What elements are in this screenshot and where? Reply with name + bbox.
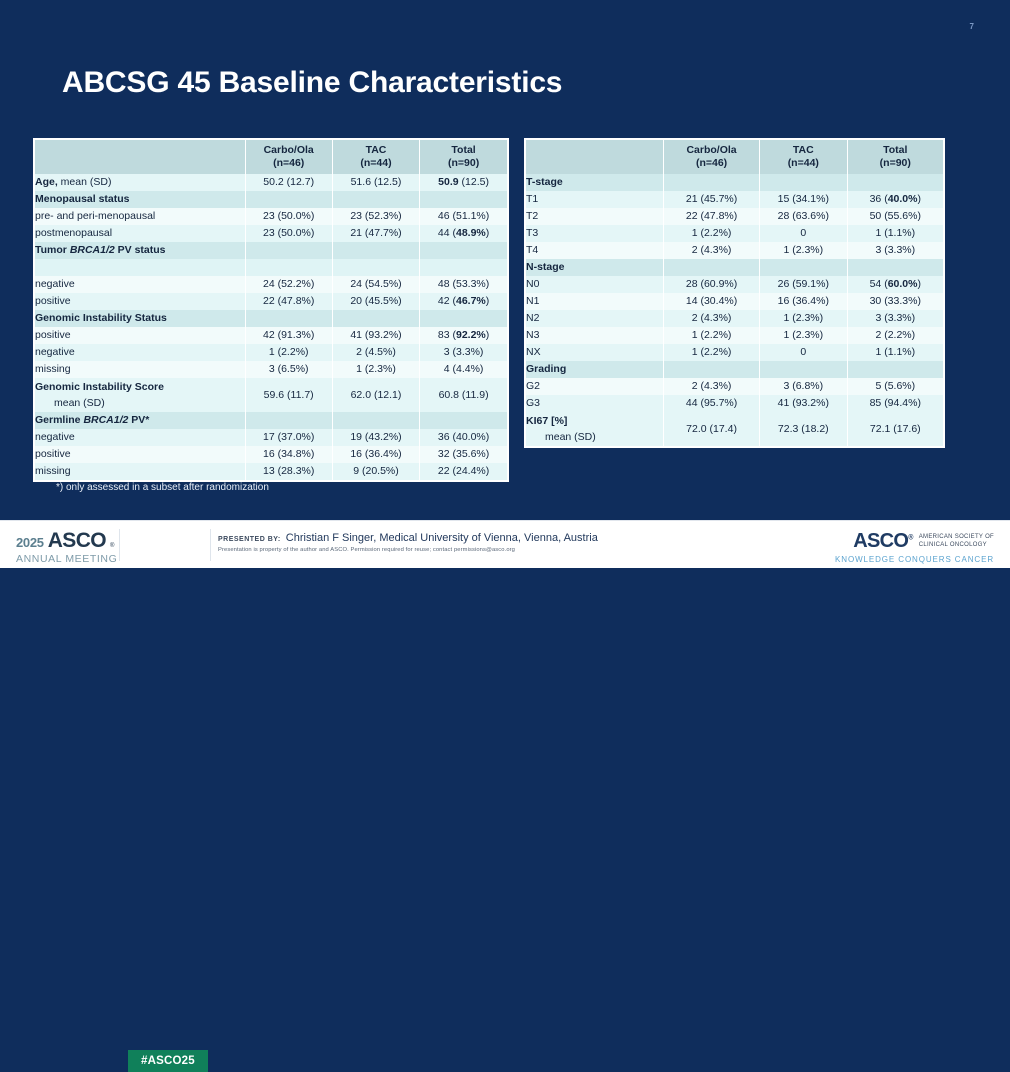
row-label: T2 — [526, 210, 538, 222]
row-value-cell: 1 (2.2%) — [245, 344, 332, 361]
row-label: T3 — [526, 227, 538, 239]
row-label-cell: T-stage — [526, 174, 664, 191]
col-header-tac-right: TAC (n=44) — [760, 140, 848, 174]
table-row: T42 (4.3%)1 (2.3%)3 (3.3%) — [526, 242, 943, 259]
row-label: negative — [35, 346, 75, 358]
row-value-cell: 1 (2.3%) — [760, 242, 848, 259]
row-label: pre- and peri-menopausal — [35, 210, 155, 222]
row-label: negative — [35, 278, 75, 290]
row-value-cell: 42 (91.3%) — [245, 327, 332, 344]
table-row: Age, mean (SD)50.2 (12.7)51.6 (12.5)50.9… — [35, 174, 507, 191]
col-header-carbo-ola-right: Carbo/Ola (n=46) — [664, 140, 760, 174]
table-row: T-stage — [526, 174, 943, 191]
row-group-label: Genomic Instability Status — [35, 312, 167, 324]
row-label-cell: pre- and peri-menopausal — [35, 208, 245, 225]
row-label: N2 — [526, 312, 539, 324]
row-value-cell: 28 (63.6%) — [760, 208, 848, 225]
row-group-label: T-stage — [526, 176, 563, 188]
row-value-cell — [332, 412, 419, 429]
page-title: ABCSG 45 Baseline Characteristics — [62, 66, 562, 100]
row-value-cell — [332, 310, 419, 327]
row-value-cell: 62.0 (12.1) — [332, 378, 419, 412]
row-label: N3 — [526, 329, 539, 341]
row-value-cell: 9 (20.5%) — [332, 463, 419, 480]
row-label-cell: N2 — [526, 310, 664, 327]
row-value-cell: 1 (2.2%) — [664, 225, 760, 242]
slide-footer: 2025 ASCO® ANNUAL MEETING #ASCO25 PRESEN… — [0, 520, 1010, 568]
row-value-cell — [420, 242, 507, 259]
table-row: Genomic Instability Status — [35, 310, 507, 327]
row-value-cell: 32 (35.6%) — [420, 446, 507, 463]
table-row: T31 (2.2%)01 (1.1%) — [526, 225, 943, 242]
row-value-cell — [420, 191, 507, 208]
row-value-cell — [847, 361, 943, 378]
row-value-cell: 36 (40.0%) — [847, 191, 943, 208]
hashtag-badge[interactable]: #ASCO25 — [128, 1050, 208, 1072]
row-label-cell: T2 — [526, 208, 664, 225]
row-group-label: N-stage — [526, 261, 565, 273]
col-header-total-right: Total (n=90) — [847, 140, 943, 174]
table-left-body: Age, mean (SD)50.2 (12.7)51.6 (12.5)50.9… — [35, 174, 507, 480]
row-value-cell — [760, 174, 848, 191]
row-value-cell: 72.1 (17.6) — [847, 412, 943, 446]
row-value-cell: 51.6 (12.5) — [332, 174, 419, 191]
row-value-cell: 26 (59.1%) — [760, 276, 848, 293]
asco-tagline: KNOWLEDGE CONQUERS CANCER — [835, 555, 994, 564]
table-row: T222 (47.8%)28 (63.6%)50 (55.6%) — [526, 208, 943, 225]
row-label: positive — [35, 329, 71, 341]
row-label-cell: Menopausal status — [35, 191, 245, 208]
row-value-cell: 72.0 (17.4) — [664, 412, 760, 446]
table-row: N22 (4.3%)1 (2.3%)3 (3.3%) — [526, 310, 943, 327]
row-value-cell — [760, 259, 848, 276]
row-value-cell: 1 (1.1%) — [847, 344, 943, 361]
row-value-cell — [420, 412, 507, 429]
row-value-cell: 50.9 (12.5) — [420, 174, 507, 191]
row-value-cell — [760, 361, 848, 378]
table-left: Carbo/Ola (n=46) TAC (n=44) Total (n=90)… — [35, 140, 507, 480]
row-label-cell: T1 — [526, 191, 664, 208]
row-label-line2: mean (SD) — [35, 395, 245, 411]
row-label-cell: positive — [35, 446, 245, 463]
row-value-cell: 0 — [760, 225, 848, 242]
row-label: T4 — [526, 244, 538, 256]
table-right-header-row: Carbo/Ola (n=46) TAC (n=44) Total (n=90) — [526, 140, 943, 174]
row-label-line2: mean (SD) — [526, 429, 663, 445]
table-row: negative17 (37.0%)19 (43.2%)36 (40.0%) — [35, 429, 507, 446]
row-value-cell — [847, 259, 943, 276]
row-label-cell: negative — [35, 276, 245, 293]
table-row: Grading — [526, 361, 943, 378]
presented-by-label: PRESENTED BY: — [218, 536, 281, 543]
row-value-cell: 30 (33.3%) — [847, 293, 943, 310]
asco-wordmark: ASCO — [48, 530, 106, 551]
row-group-label: Germline BRCA1/2 PV* — [35, 414, 149, 426]
row-value-cell: 50.2 (12.7) — [245, 174, 332, 191]
row-value-cell: 41 (93.2%) — [332, 327, 419, 344]
row-group-label: Menopausal status — [35, 193, 130, 205]
row-value-cell: 3 (3.3%) — [420, 344, 507, 361]
row-value-cell — [664, 259, 760, 276]
row-value-cell: 3 (3.3%) — [847, 310, 943, 327]
row-value-cell: 36 (40.0%) — [420, 429, 507, 446]
row-value-cell — [332, 191, 419, 208]
row-label-line1: Genomic Instability Score — [35, 379, 245, 395]
presenter-name: Christian F Singer, Medical University o… — [286, 532, 598, 544]
row-value-cell — [245, 310, 332, 327]
row-value-cell — [420, 259, 507, 276]
footer-disclaimer: Presentation is property of the author a… — [218, 547, 598, 553]
table-row — [35, 259, 507, 276]
row-value-cell: 42 (46.7%) — [420, 293, 507, 310]
asco-logo: ASCO® AMERICAN SOCIETY OF CLINICAL ONCOL… — [835, 531, 994, 564]
row-value-cell: 3 (3.3%) — [847, 242, 943, 259]
row-label: postmenopausal — [35, 227, 112, 239]
row-value-cell: 0 — [760, 344, 848, 361]
row-label: positive — [35, 295, 71, 307]
row-label: missing — [35, 363, 71, 375]
presented-by-block: PRESENTED BY: Christian F Singer, Medica… — [218, 532, 598, 553]
row-value-cell: 59.6 (11.7) — [245, 378, 332, 412]
table-row: missing13 (28.3%)9 (20.5%)22 (24.4%) — [35, 463, 507, 480]
row-value-cell: 1 (2.3%) — [760, 327, 848, 344]
row-label-cell: N1 — [526, 293, 664, 310]
row-value-cell: 21 (47.7%) — [332, 225, 419, 242]
page-number: 7 — [970, 22, 974, 31]
row-label-cell: T4 — [526, 242, 664, 259]
row-label-cell: Tumor BRCA1/2 PV status — [35, 242, 245, 259]
row-value-cell: 4 (4.4%) — [420, 361, 507, 378]
row-value-cell: 17 (37.0%) — [245, 429, 332, 446]
row-label-cell: G2 — [526, 378, 664, 395]
row-label-cell: N3 — [526, 327, 664, 344]
row-value-cell: 83 (92.2%) — [420, 327, 507, 344]
row-value-cell: 1 (2.2%) — [664, 327, 760, 344]
baseline-characteristics-table-right: Carbo/Ola (n=46) TAC (n=44) Total (n=90)… — [524, 138, 945, 448]
row-value-cell — [332, 259, 419, 276]
row-label-cell: missing — [35, 463, 245, 480]
table-right: Carbo/Ola (n=46) TAC (n=44) Total (n=90)… — [526, 140, 943, 446]
row-label-cell: T3 — [526, 225, 664, 242]
table-row: G22 (4.3%)3 (6.8%)5 (5.6%) — [526, 378, 943, 395]
row-group-label: Grading — [526, 363, 566, 375]
row-value-cell — [664, 361, 760, 378]
table-row: Germline BRCA1/2 PV* — [35, 412, 507, 429]
row-value-cell — [332, 242, 419, 259]
table-right-header: Carbo/Ola (n=46) TAC (n=44) Total (n=90) — [526, 140, 943, 174]
table-row: N-stage — [526, 259, 943, 276]
table-row: N028 (60.9%)26 (59.1%)54 (60.0%) — [526, 276, 943, 293]
row-value-cell: 60.8 (11.9) — [420, 378, 507, 412]
row-value-cell — [245, 259, 332, 276]
row-value-cell: 3 (6.5%) — [245, 361, 332, 378]
table-row: postmenopausal23 (50.0%)21 (47.7%)44 (48… — [35, 225, 507, 242]
footer-divider-2 — [210, 529, 211, 561]
row-label-cell: NX — [526, 344, 664, 361]
row-value-cell — [420, 310, 507, 327]
row-value-cell: 16 (34.8%) — [245, 446, 332, 463]
row-value-cell: 24 (54.5%) — [332, 276, 419, 293]
table-row: T121 (45.7%)15 (34.1%)36 (40.0%) — [526, 191, 943, 208]
row-label-cell: missing — [35, 361, 245, 378]
table-row: Menopausal status — [35, 191, 507, 208]
row-label: missing — [35, 465, 71, 477]
table-row: positive22 (47.8%)20 (45.5%)42 (46.7%) — [35, 293, 507, 310]
row-label-cell: Age, mean (SD) — [35, 174, 245, 191]
row-label-cell: Germline BRCA1/2 PV* — [35, 412, 245, 429]
row-value-cell: 1 (2.2%) — [664, 344, 760, 361]
row-value-cell: 20 (45.5%) — [332, 293, 419, 310]
row-label-cell: Genomic Instability Status — [35, 310, 245, 327]
row-value-cell: 5 (5.6%) — [847, 378, 943, 395]
row-value-cell: 1 (1.1%) — [847, 225, 943, 242]
row-label: T1 — [526, 193, 538, 205]
row-value-cell: 24 (52.2%) — [245, 276, 332, 293]
row-value-cell: 44 (95.7%) — [664, 395, 760, 412]
table-left-header: Carbo/Ola (n=46) TAC (n=44) Total (n=90) — [35, 140, 507, 174]
meeting-subtitle: ANNUAL MEETING — [16, 554, 117, 565]
row-label: G2 — [526, 380, 540, 392]
table-row: negative24 (52.2%)24 (54.5%)48 (53.3%) — [35, 276, 507, 293]
row-value-cell: 2 (4.3%) — [664, 242, 760, 259]
table-left-header-row: Carbo/Ola (n=46) TAC (n=44) Total (n=90) — [35, 140, 507, 174]
row-value-cell: 72.3 (18.2) — [760, 412, 848, 446]
row-label-cell: N0 — [526, 276, 664, 293]
row-value-cell — [245, 242, 332, 259]
row-value-cell — [245, 191, 332, 208]
row-value-cell — [847, 174, 943, 191]
row-label: NX — [526, 346, 541, 358]
slide: 7 ABCSG 45 Baseline Characteristics Carb… — [0, 0, 1010, 568]
row-value-cell: 21 (45.7%) — [664, 191, 760, 208]
baseline-characteristics-table-left: Carbo/Ola (n=46) TAC (n=44) Total (n=90)… — [33, 138, 509, 482]
row-label-cell: KI67 [%]mean (SD) — [526, 412, 664, 446]
row-value-cell: 28 (60.9%) — [664, 276, 760, 293]
row-value-cell: 14 (30.4%) — [664, 293, 760, 310]
row-value-cell: 41 (93.2%) — [760, 395, 848, 412]
row-value-cell: 23 (52.3%) — [332, 208, 419, 225]
row-label-cell: negative — [35, 429, 245, 446]
table-row: KI67 [%]mean (SD)72.0 (17.4)72.3 (18.2)7… — [526, 412, 943, 446]
registered-mark-icon-2: ® — [908, 534, 912, 541]
row-value-cell: 44 (48.9%) — [420, 225, 507, 242]
table-right-body: T-stageT121 (45.7%)15 (34.1%)36 (40.0%)T… — [526, 174, 943, 446]
table-row: negative1 (2.2%)2 (4.5%)3 (3.3%) — [35, 344, 507, 361]
table-row: Tumor BRCA1/2 PV status — [35, 242, 507, 259]
row-label-cell — [35, 259, 245, 276]
row-value-cell: 16 (36.4%) — [332, 446, 419, 463]
table-row: positive16 (34.8%)16 (36.4%)32 (35.6%) — [35, 446, 507, 463]
row-label: Age, mean (SD) — [35, 176, 111, 188]
row-label-cell: negative — [35, 344, 245, 361]
hashtag-label: #ASCO25 — [128, 1050, 208, 1072]
col-header-label-left — [35, 140, 245, 174]
row-label: positive — [35, 448, 71, 460]
table-row: NX1 (2.2%)01 (1.1%) — [526, 344, 943, 361]
row-label-cell: Grading — [526, 361, 664, 378]
col-header-label-right — [526, 140, 664, 174]
registered-mark-icon: ® — [110, 543, 114, 549]
row-value-cell: 46 (51.1%) — [420, 208, 507, 225]
row-value-cell: 15 (34.1%) — [760, 191, 848, 208]
table-row: missing3 (6.5%)1 (2.3%)4 (4.4%) — [35, 361, 507, 378]
row-value-cell: 2 (2.2%) — [847, 327, 943, 344]
footnote: *) only assessed in a subset after rando… — [56, 482, 269, 493]
table-row: N114 (30.4%)16 (36.4%)30 (33.3%) — [526, 293, 943, 310]
table-row: Genomic Instability Scoremean (SD)59.6 (… — [35, 378, 507, 412]
row-label: N0 — [526, 278, 539, 290]
row-value-cell: 85 (94.4%) — [847, 395, 943, 412]
row-value-cell: 54 (60.0%) — [847, 276, 943, 293]
row-value-cell: 1 (2.3%) — [760, 310, 848, 327]
row-value-cell: 2 (4.3%) — [664, 310, 760, 327]
row-value-cell: 50 (55.6%) — [847, 208, 943, 225]
row-label-cell: G3 — [526, 395, 664, 412]
row-label-cell: positive — [35, 327, 245, 344]
row-label: G3 — [526, 397, 540, 409]
row-label-cell: positive — [35, 293, 245, 310]
table-row: pre- and peri-menopausal23 (50.0%)23 (52… — [35, 208, 507, 225]
row-value-cell: 19 (43.2%) — [332, 429, 419, 446]
footer-divider-1 — [119, 529, 120, 561]
table-row: G344 (95.7%)41 (93.2%)85 (94.4%) — [526, 395, 943, 412]
row-value-cell — [664, 174, 760, 191]
row-value-cell: 2 (4.5%) — [332, 344, 419, 361]
row-value-cell: 22 (47.8%) — [245, 293, 332, 310]
row-group-label: Tumor BRCA1/2 PV status — [35, 244, 166, 256]
row-value-cell: 13 (28.3%) — [245, 463, 332, 480]
col-header-carbo-ola-left: Carbo/Ola (n=46) — [245, 140, 332, 174]
row-label: negative — [35, 431, 75, 443]
row-value-cell: 2 (4.3%) — [664, 378, 760, 395]
row-label: N1 — [526, 295, 539, 307]
asco-logo-mark: ASCO® — [853, 531, 912, 551]
row-label-line1: KI67 [%] — [526, 413, 663, 429]
asco-annual-meeting-logo: 2025 ASCO® ANNUAL MEETING — [16, 530, 117, 565]
row-value-cell — [245, 412, 332, 429]
row-value-cell: 3 (6.8%) — [760, 378, 848, 395]
row-label-cell: Genomic Instability Scoremean (SD) — [35, 378, 245, 412]
row-value-cell: 1 (2.3%) — [332, 361, 419, 378]
row-value-cell: 16 (36.4%) — [760, 293, 848, 310]
meeting-year: 2025 — [16, 536, 44, 549]
table-row: positive42 (91.3%)41 (93.2%)83 (92.2%) — [35, 327, 507, 344]
row-label-cell: N-stage — [526, 259, 664, 276]
row-value-cell: 22 (24.4%) — [420, 463, 507, 480]
col-header-tac-left: TAC (n=44) — [332, 140, 419, 174]
col-header-total-left: Total (n=90) — [420, 140, 507, 174]
table-row: N31 (2.2%)1 (2.3%)2 (2.2%) — [526, 327, 943, 344]
row-value-cell: 22 (47.8%) — [664, 208, 760, 225]
asco-logo-subtext: AMERICAN SOCIETY OF CLINICAL ONCOLOGY — [919, 531, 994, 549]
row-value-cell: 23 (50.0%) — [245, 208, 332, 225]
row-label-cell: postmenopausal — [35, 225, 245, 242]
row-value-cell: 23 (50.0%) — [245, 225, 332, 242]
row-value-cell: 48 (53.3%) — [420, 276, 507, 293]
